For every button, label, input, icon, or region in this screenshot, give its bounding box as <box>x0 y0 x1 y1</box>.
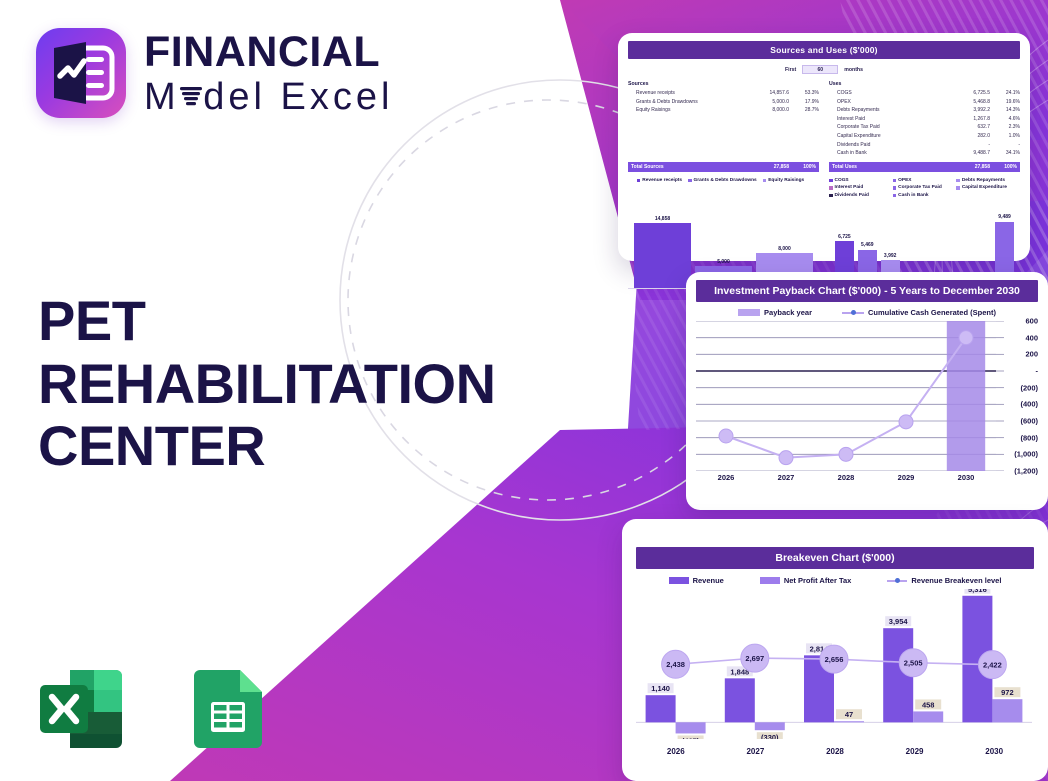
payback-y-tick: (400) <box>1020 400 1038 409</box>
investment-payback-card: Investment Payback Chart ($'000) - 5 Yea… <box>686 272 1048 510</box>
legend-swatch-icon <box>956 179 960 183</box>
legend-label: Equity Raisings <box>768 178 804 183</box>
payback-y-tick: (1,200) <box>1014 467 1038 476</box>
uses-bar-label: 9,489 <box>998 214 1011 220</box>
uses-total-pct: 100% <box>990 164 1020 170</box>
payback-plot-area: 600400200-(200)(400)(600)(800)(1,000)(1,… <box>696 321 1038 471</box>
uses-table: Uses COGS6,725.524.1%OPEX5,468.819.6%Deb… <box>829 81 1020 172</box>
legend-label: Corporate Tax Paid <box>898 185 942 190</box>
svg-text:(330): (330) <box>761 733 779 739</box>
sources-uses-tables: Sources Revenue receipts14,857.653.3%Gra… <box>628 81 1020 172</box>
uses-legend-item: COGS <box>829 178 887 183</box>
payback-bar-swatch-icon <box>738 309 760 316</box>
google-sheets-icon <box>178 660 276 763</box>
sources-table: Sources Revenue receipts14,857.653.3%Gra… <box>628 81 819 172</box>
uses-row-pct: - <box>990 141 1020 150</box>
uses-row-value: 5,468.8 <box>948 98 990 107</box>
sources-legend-item: Revenue receipts <box>637 178 682 183</box>
sources-row-value: 5,000.0 <box>747 98 789 107</box>
legend-label: OPEX <box>898 178 911 183</box>
svg-text:5,316: 5,316 <box>968 589 987 594</box>
payback-title: Investment Payback Chart ($'000) - 5 Yea… <box>696 280 1038 302</box>
table-row-spacer <box>628 115 819 124</box>
uses-row-pct: 4.6% <box>990 115 1020 124</box>
sources-bar-label: 8,000 <box>778 246 791 252</box>
table-row: COGS6,725.524.1% <box>829 89 1020 98</box>
legend-label: Dividends Paid <box>835 193 869 198</box>
uses-row-value: 632.7 <box>948 123 990 132</box>
table-row-spacer <box>628 132 819 141</box>
sources-rows: Revenue receipts14,857.653.3%Grants & De… <box>628 89 819 158</box>
payback-x-tick: 2030 <box>936 473 996 482</box>
uses-legend-item: OPEX <box>893 178 951 183</box>
uses-legend-item: Corporate Tax Paid <box>893 185 951 190</box>
uses-legend-item: Cash in Bank <box>893 193 951 198</box>
sources-row-name: Equity Raisings <box>628 106 747 115</box>
table-row: Grants & Debts Drawdowns5,000.017.9% <box>628 98 819 107</box>
legend-swatch-icon <box>829 179 833 183</box>
uses-row-name: Capital Expenditure <box>829 132 948 141</box>
npat-swatch-icon <box>760 577 780 584</box>
payback-legend: Payback year Cumulative Cash Generated (… <box>696 308 1038 317</box>
table-row: Capital Expenditure282.01.0% <box>829 132 1020 141</box>
sources-legend-item: Equity Raisings <box>763 178 804 183</box>
sources-bar-label: 14,858 <box>655 216 670 222</box>
table-row: Corporate Tax Paid632.72.3% <box>829 123 1020 132</box>
svg-text:2,697: 2,697 <box>745 654 764 663</box>
period-prefix-label: First <box>785 67 796 73</box>
uses-row-pct: 2.3% <box>990 123 1020 132</box>
sources-bar <box>634 223 691 288</box>
table-row: Interest Paid1,267.84.6% <box>829 115 1020 124</box>
sources-uses-legends: Revenue receiptsGrants & Debts Drawdowns… <box>628 178 1020 200</box>
file-format-icons <box>32 660 276 763</box>
breakeven-legend-npat-label: Net Profit After Tax <box>784 576 852 585</box>
breakeven-x-tick: 2026 <box>636 747 716 756</box>
uses-row-value: 9,488.7 <box>948 149 990 158</box>
svg-text:2,505: 2,505 <box>904 658 923 667</box>
sources-total-pct: 100% <box>789 164 819 170</box>
uses-legend-item: Interest Paid <box>829 185 887 190</box>
payback-x-tick: 2027 <box>756 473 816 482</box>
brand-line2-pre: M <box>144 76 180 118</box>
svg-text:972: 972 <box>1001 688 1014 697</box>
table-row: OPEX5,468.819.6% <box>829 98 1020 107</box>
sources-uses-title: Sources and Uses ($'000) <box>628 41 1020 59</box>
breakeven-legend: Revenue Net Profit After Tax Revenue Bre… <box>636 576 1034 585</box>
sources-and-uses-card: Sources and Uses ($'000) First 60 months… <box>618 33 1030 261</box>
sources-table-header: Sources <box>628 81 819 87</box>
uses-bar-label: 3,992 <box>884 253 897 259</box>
sources-bar-group: 14,858 <box>634 203 691 288</box>
sources-row-value: 8,000.0 <box>747 106 789 115</box>
uses-rows: COGS6,725.524.1%OPEX5,468.819.6%Debts Re… <box>829 89 1020 158</box>
uses-row-value: 3,992.2 <box>948 106 990 115</box>
brand-wordmark: FINANCIAL M del Excel <box>144 31 393 116</box>
brand-line2-post: del Excel <box>203 76 393 118</box>
legend-swatch-icon <box>893 186 897 190</box>
uses-table-header: Uses <box>829 81 1020 87</box>
breakeven-title: Breakeven Chart ($'000) <box>636 547 1034 569</box>
payback-y-tick: (600) <box>1020 417 1038 426</box>
payback-legend-line-label: Cumulative Cash Generated (Spent) <box>868 308 996 317</box>
sources-total-row: Total Sources 27,858 100% <box>628 162 819 172</box>
left-content-column: FINANCIAL M del Excel PET REHABILITATION… <box>0 0 600 781</box>
uses-row-pct: 1.0% <box>990 132 1020 141</box>
uses-legend-item: Dividends Paid <box>829 193 887 198</box>
uses-row-value: 282.0 <box>948 132 990 141</box>
period-suffix-label: months <box>844 67 863 73</box>
table-row-spacer <box>628 123 819 132</box>
svg-text:2,656: 2,656 <box>825 655 844 664</box>
uses-row-name: Debts Repayments <box>829 106 948 115</box>
payback-x-tick: 2029 <box>876 473 936 482</box>
table-row: Dividends Paid-- <box>829 141 1020 150</box>
breakeven-x-tick: 2030 <box>954 747 1034 756</box>
payback-line-swatch-icon <box>842 312 864 314</box>
uses-legend-item: Capital Expenditure <box>956 185 1014 190</box>
uses-bar-label: 6,725 <box>838 234 851 240</box>
uses-row-name: Dividends Paid <box>829 141 948 150</box>
payback-x-tick: 2028 <box>816 473 876 482</box>
breakeven-legend-revenue-label: Revenue <box>693 576 724 585</box>
breakeven-x-tick: 2028 <box>795 747 875 756</box>
sources-total-label: Total Sources <box>628 164 747 170</box>
legend-swatch-icon <box>893 194 897 198</box>
payback-y-tick: (800) <box>1020 433 1038 442</box>
microsoft-excel-icon <box>32 660 130 763</box>
uses-row-name: Corporate Tax Paid <box>829 123 948 132</box>
uses-row-pct: 34.1% <box>990 149 1020 158</box>
payback-y-tick: 200 <box>1025 350 1038 359</box>
legend-label: Capital Expenditure <box>962 185 1007 190</box>
payback-y-tick: 600 <box>1025 317 1038 326</box>
uses-legend-item: Debts Repayments <box>956 178 1014 183</box>
payback-y-tick: (1,000) <box>1014 450 1038 459</box>
legend-swatch-icon <box>893 179 897 183</box>
breakeven-plot-area: 1,140(467)1,848(330)2,814473,9544585,316… <box>636 589 1034 739</box>
uses-row-name: COGS <box>829 89 948 98</box>
uses-row-value: 6,725.5 <box>948 89 990 98</box>
uses-total-value: 27,858 <box>948 164 990 170</box>
brand-line-primary: FINANCIAL <box>144 31 393 74</box>
breakeven-x-tick: 2027 <box>716 747 796 756</box>
payback-y-tick: (200) <box>1020 383 1038 392</box>
svg-text:1,140: 1,140 <box>651 684 670 693</box>
sources-row-name: Revenue receipts <box>628 89 747 98</box>
svg-text:2,438: 2,438 <box>666 660 685 669</box>
breakeven-card: Breakeven Chart ($'000) Revenue Net Prof… <box>622 519 1048 781</box>
table-row-spacer <box>628 149 819 158</box>
svg-text:47: 47 <box>845 710 853 719</box>
sources-legend: Revenue receiptsGrants & Debts Drawdowns… <box>628 178 819 200</box>
sources-row-pct: 28.7% <box>789 106 819 115</box>
breakeven-x-axis-labels: 20262027202820292030 <box>636 747 1034 756</box>
uses-row-pct: 19.6% <box>990 98 1020 107</box>
payback-x-axis-labels: 20262027202820292030 <box>696 473 1038 482</box>
brand-line-secondary: M del Excel <box>144 78 393 116</box>
payback-y-tick: - <box>1036 367 1039 376</box>
page-title: PET REHABILITATION CENTER <box>38 290 578 478</box>
table-row: Debts Repayments3,992.214.3% <box>829 106 1020 115</box>
legend-label: Grants & Debts Drawdowns <box>694 178 757 183</box>
table-row-spacer <box>628 141 819 150</box>
legend-swatch-icon <box>688 179 692 183</box>
payback-y-axis-labels: 600400200-(200)(400)(600)(800)(1,000)(1,… <box>998 321 1038 471</box>
legend-label: Cash in Bank <box>898 193 928 198</box>
breakeven-legend-revenue: Revenue <box>669 576 724 585</box>
payback-legend-line: Cumulative Cash Generated (Spent) <box>842 308 996 317</box>
legend-label: COGS <box>835 178 849 183</box>
legend-label: Revenue receipts <box>642 178 682 183</box>
uses-row-pct: 24.1% <box>990 89 1020 98</box>
uses-row-value: 1,267.8 <box>948 115 990 124</box>
uses-total-row: Total Uses 27,858 100% <box>829 162 1020 172</box>
uses-bar-label: 5,469 <box>861 242 874 248</box>
sources-legend-item: Grants & Debts Drawdowns <box>688 178 757 183</box>
legend-label: Debts Repayments <box>962 178 1005 183</box>
uses-row-pct: 14.3% <box>990 106 1020 115</box>
svg-text:(467): (467) <box>682 736 700 739</box>
legend-label: Interest Paid <box>835 185 864 190</box>
breakeven-level-swatch-icon <box>887 580 907 582</box>
uses-row-name: Cash in Bank <box>829 149 948 158</box>
svg-text:3,954: 3,954 <box>889 617 909 626</box>
breakeven-legend-level-label: Revenue Breakeven level <box>911 576 1001 585</box>
sources-total-value: 27,858 <box>747 164 789 170</box>
sources-row-pct: 53.3% <box>789 89 819 98</box>
table-row: Revenue receipts14,857.653.3% <box>628 89 819 98</box>
financial-model-logo-icon <box>36 28 126 118</box>
sources-bar-label: 5,000 <box>717 259 730 265</box>
legend-swatch-icon <box>956 186 960 190</box>
payback-legend-bar-label: Payback year <box>764 308 812 317</box>
svg-text:2,422: 2,422 <box>983 660 1002 669</box>
legend-swatch-icon <box>763 179 767 183</box>
uses-row-value: - <box>948 141 990 150</box>
payback-legend-bar: Payback year <box>738 308 812 317</box>
sources-row-value: 14,857.6 <box>747 89 789 98</box>
legend-swatch-icon <box>829 194 833 198</box>
revenue-swatch-icon <box>669 577 689 584</box>
sources-row-name: Grants & Debts Drawdowns <box>628 98 747 107</box>
period-months-input[interactable]: 60 <box>802 65 838 74</box>
breakeven-legend-npat: Net Profit After Tax <box>760 576 852 585</box>
brand-lockup: FINANCIAL M del Excel <box>36 28 393 118</box>
uses-row-name: OPEX <box>829 98 948 107</box>
uses-legend: COGSOPEXDebts RepaymentsInterest PaidCor… <box>829 178 1020 200</box>
breakeven-x-tick: 2029 <box>875 747 955 756</box>
breakeven-legend-level: Revenue Breakeven level <box>887 576 1001 585</box>
sources-row-pct: 17.9% <box>789 98 819 107</box>
table-row: Equity Raisings8,000.028.7% <box>628 106 819 115</box>
uses-row-name: Interest Paid <box>829 115 948 124</box>
legend-swatch-icon <box>637 179 641 183</box>
uses-total-label: Total Uses <box>829 164 948 170</box>
svg-text:458: 458 <box>922 700 935 709</box>
period-selector[interactable]: First 60 months <box>628 65 1020 74</box>
payback-y-tick: 400 <box>1025 333 1038 342</box>
table-row: Cash in Bank9,488.734.1% <box>829 149 1020 158</box>
legend-swatch-icon <box>829 186 833 190</box>
payback-x-tick: 2026 <box>696 473 756 482</box>
